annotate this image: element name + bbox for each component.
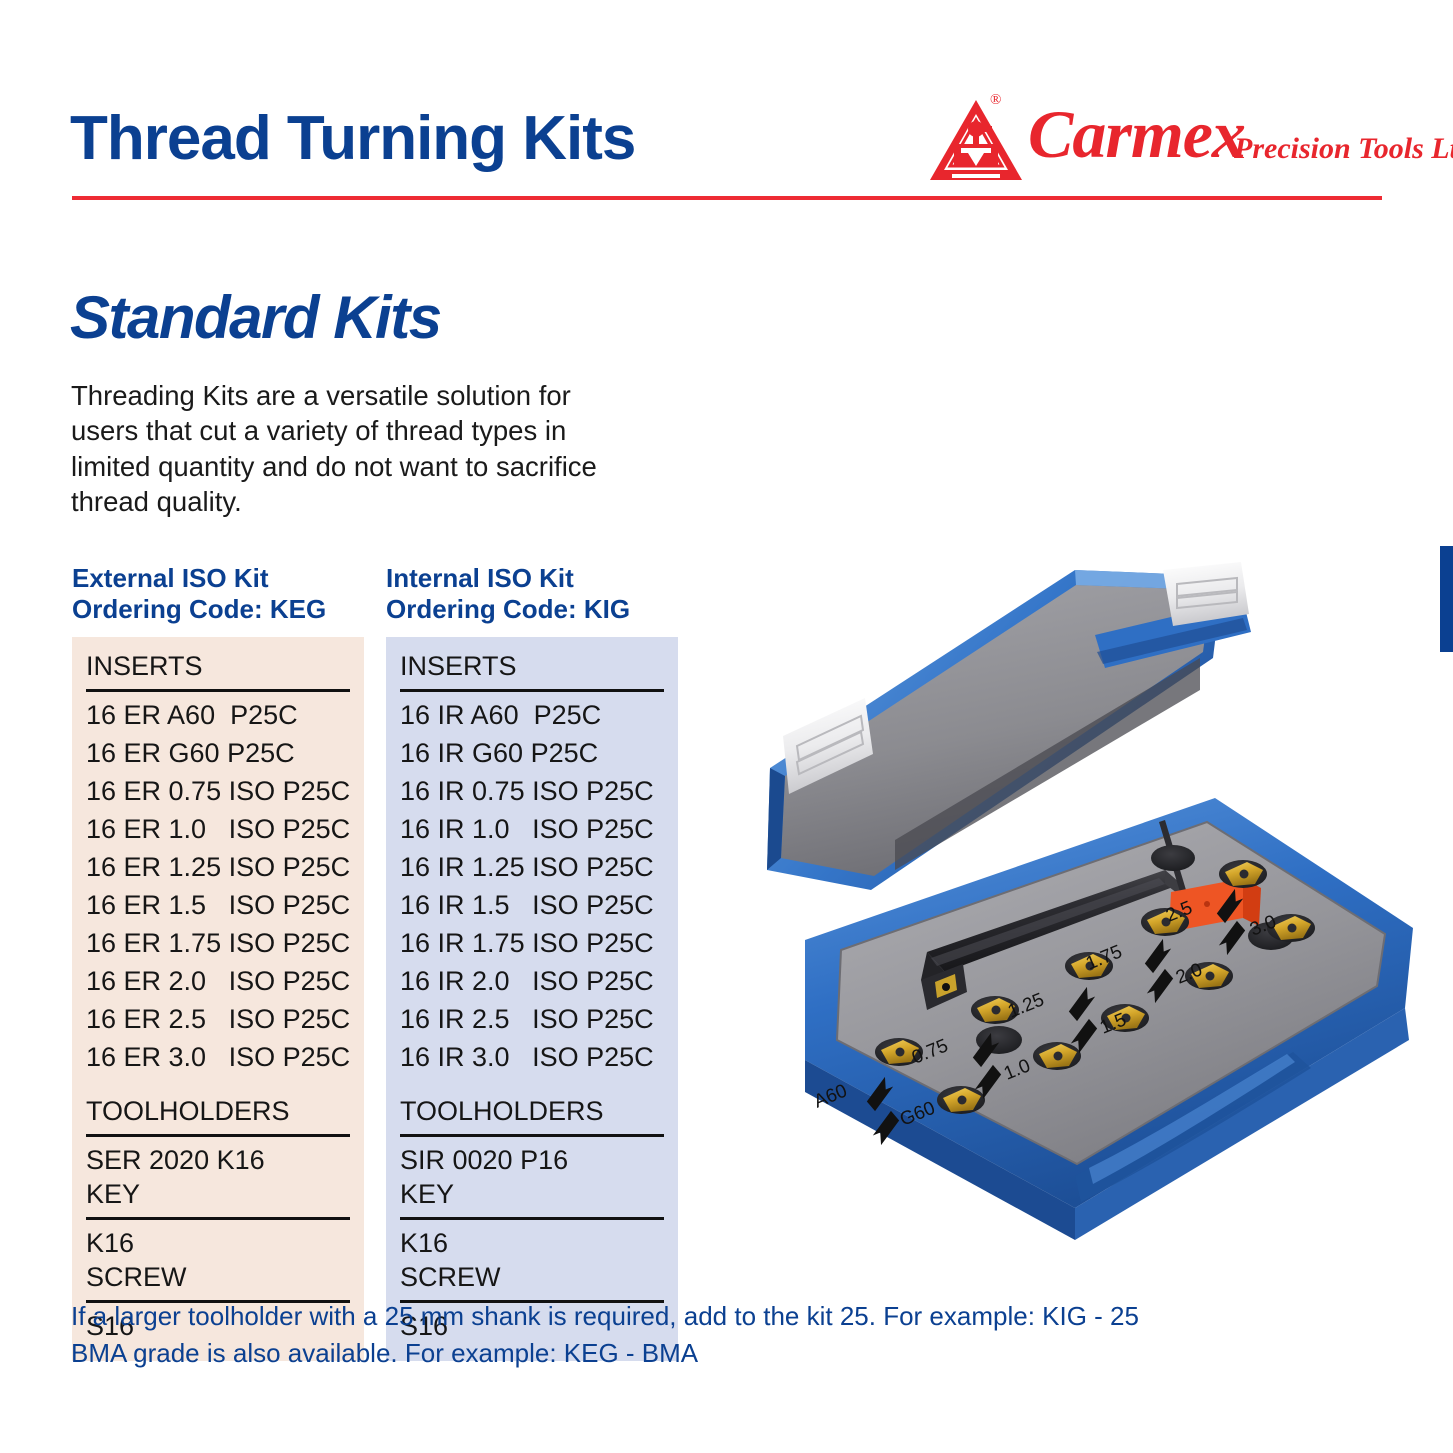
group-spacer: [386, 1076, 678, 1096]
footnote-line1: If a larger toolholder with a 25 mm shan…: [71, 1298, 1271, 1335]
group-label: KEY: [72, 1179, 364, 1214]
group-label: SCREW: [386, 1262, 678, 1297]
kit-row: 16 ER 0.75 ISO P25C: [72, 772, 364, 810]
kit-heading-external: External ISO Kit Ordering Code: KEG: [72, 563, 364, 625]
carmex-triangle-logo-icon: [928, 96, 1024, 184]
kit-group-toolholders: TOOLHOLDERS SER 2020 K16: [72, 1096, 364, 1179]
registered-trademark-icon: ®: [990, 92, 1001, 109]
page-title: Thread Turning Kits: [70, 108, 635, 170]
kit-group-key: KEY K16: [386, 1179, 678, 1262]
group-label: INSERTS: [72, 651, 364, 686]
insert-pocket-empty: [1151, 845, 1195, 871]
group-rule: [400, 1134, 664, 1137]
logo-tagline: Precision Tools Ltd.: [1234, 132, 1453, 166]
kit-heading-internal: Internal ISO Kit Ordering Code: KIG: [386, 563, 678, 625]
group-label: TOOLHOLDERS: [72, 1096, 364, 1131]
kit-row: K16: [386, 1224, 678, 1262]
kit-row: 16 IR 1.5 ISO P25C: [386, 886, 678, 924]
page-edge-tab: [1440, 546, 1453, 652]
kit-row: SIR 0020 P16: [386, 1141, 678, 1179]
kit-row: 16 ER 1.75 ISO P25C: [72, 924, 364, 962]
kit-group-key: KEY K16: [72, 1179, 364, 1262]
kit-row: 16 ER G60 P25C: [72, 734, 364, 772]
group-label: SCREW: [72, 1262, 364, 1297]
group-label: KEY: [386, 1179, 678, 1214]
kit-row: 16 IR 1.25 ISO P25C: [386, 848, 678, 886]
kit-row: 16 IR 1.75 ISO P25C: [386, 924, 678, 962]
group-rule: [86, 689, 350, 692]
kit-row: 16 IR A60 P25C: [386, 696, 678, 734]
kit-row: 16 IR 1.0 ISO P25C: [386, 810, 678, 848]
insert-2-5: [1219, 860, 1267, 888]
kit-row: SER 2020 K16: [72, 1141, 364, 1179]
kit-heading-line2: Ordering Code: KEG: [72, 594, 364, 625]
footnote-line2: BMA grade is also available. For example…: [71, 1335, 1271, 1372]
carmex-logo: ® Carmex Precision Tools Ltd.: [928, 92, 1428, 188]
header-divider-rule: [72, 196, 1382, 200]
logo-wordmark: Carmex: [1028, 100, 1245, 168]
kit-row: 16 ER 2.5 ISO P25C: [72, 1000, 364, 1038]
kit-panel-external: INSERTS 16 ER A60 P25C 16 ER G60 P25C 16…: [72, 637, 364, 1361]
kit-row: 16 IR G60 P25C: [386, 734, 678, 772]
group-label: TOOLHOLDERS: [386, 1096, 678, 1131]
group-rule: [400, 1217, 664, 1220]
kit-row: 16 IR 0.75 ISO P25C: [386, 772, 678, 810]
kit-row: 16 ER 3.0 ISO P25C: [72, 1038, 364, 1076]
kit-heading-line2: Ordering Code: KIG: [386, 594, 678, 625]
kit-column-external: External ISO Kit Ordering Code: KEG INSE…: [72, 563, 364, 1361]
kit-row: 16 ER 2.0 ISO P25C: [72, 962, 364, 1000]
section-intro-text: Threading Kits are a versatile solution …: [71, 378, 631, 520]
kit-group-inserts: INSERTS 16 ER A60 P25C 16 ER G60 P25C 16…: [72, 651, 364, 1076]
group-rule: [86, 1217, 350, 1220]
kit-row: 16 ER 1.5 ISO P25C: [72, 886, 364, 924]
kit-row: K16: [72, 1224, 364, 1262]
group-rule: [86, 1134, 350, 1137]
footnote: If a larger toolholder with a 25 mm shan…: [71, 1298, 1271, 1372]
insert-1-0: [1033, 1042, 1081, 1070]
section-title: Standard Kits: [70, 288, 441, 348]
kit-heading-line1: Internal ISO Kit: [386, 563, 678, 594]
kit-row: 16 IR 2.0 ISO P25C: [386, 962, 678, 1000]
kit-row: 16 ER A60 P25C: [72, 696, 364, 734]
kit-row: 16 ER 1.0 ISO P25C: [72, 810, 364, 848]
group-label: INSERTS: [386, 651, 678, 686]
kit-row: 16 IR 3.0 ISO P25C: [386, 1038, 678, 1076]
kit-heading-line1: External ISO Kit: [72, 563, 364, 594]
group-spacer: [72, 1076, 364, 1096]
kit-group-toolholders: TOOLHOLDERS SIR 0020 P16: [386, 1096, 678, 1179]
product-photo-thread-turning-kit-case: A60 G60 0.75 1.0 1.25 1.5 1.75 2.0 2.5 3…: [745, 540, 1435, 1270]
kit-row: 16 ER 1.25 ISO P25C: [72, 848, 364, 886]
insert-g60: [937, 1086, 985, 1114]
kit-column-internal: Internal ISO Kit Ordering Code: KIG INSE…: [386, 563, 678, 1361]
kit-row: 16 IR 2.5 ISO P25C: [386, 1000, 678, 1038]
kit-panel-internal: INSERTS 16 IR A60 P25C 16 IR G60 P25C 16…: [386, 637, 678, 1361]
kit-group-inserts: INSERTS 16 IR A60 P25C 16 IR G60 P25C 16…: [386, 651, 678, 1076]
group-rule: [400, 689, 664, 692]
